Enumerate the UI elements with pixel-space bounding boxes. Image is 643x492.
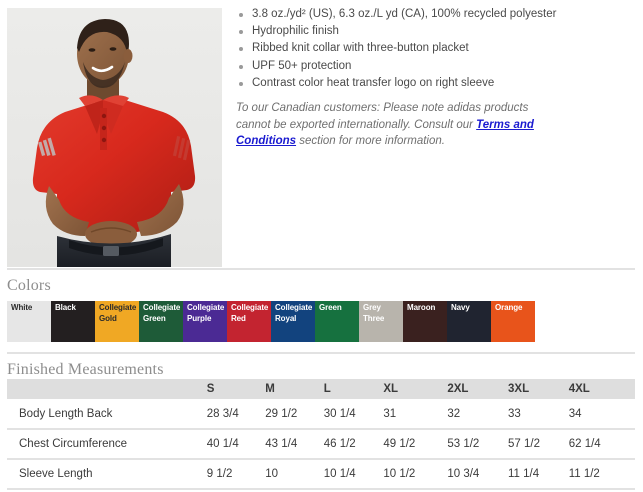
cell-value: 57 1/2 (508, 429, 569, 459)
colors-section-title: Colors (7, 277, 51, 295)
table-body: Body Length Back 28 3/4 29 1/2 30 1/4 31… (7, 399, 635, 489)
color-swatch-collegiate-gold[interactable]: Collegiate Gold (95, 301, 139, 342)
cell-value: 34 (569, 399, 635, 429)
list-item: UPF 50+ protection (236, 58, 636, 75)
cell-value: 10 (265, 459, 323, 489)
color-swatch-label: Maroon (407, 303, 446, 314)
color-swatch-label: Orange (495, 303, 534, 314)
cell-value: 10 1/2 (383, 459, 447, 489)
color-swatch-green[interactable]: Green (315, 301, 359, 342)
column-header-l: L (324, 379, 384, 399)
color-swatch-label: Green (319, 303, 358, 314)
table-row: Sleeve Length 9 1/2 10 10 1/4 10 1/2 10 … (7, 459, 635, 489)
cell-value: 10 3/4 (447, 459, 508, 489)
finished-measurements-table: S M L XL 2XL 3XL 4XL Body Length Back 28… (7, 379, 635, 490)
color-swatch-label: Collegiate Gold (99, 303, 138, 324)
row-label: Chest Circumference (7, 429, 207, 459)
color-swatch-label: Black (55, 303, 94, 314)
cell-value: 10 1/4 (324, 459, 384, 489)
column-header-xl: XL (383, 379, 447, 399)
canadian-customers-note: To our Canadian customers: Please note a… (236, 100, 566, 150)
color-swatch-label: Collegiate Royal (275, 303, 314, 324)
cell-value: 11 1/4 (508, 459, 569, 489)
column-header-blank (7, 379, 207, 399)
cell-value: 49 1/2 (383, 429, 447, 459)
table-row: Body Length Back 28 3/4 29 1/2 30 1/4 31… (7, 399, 635, 429)
cell-value: 31 (383, 399, 447, 429)
model-photo-graphic (7, 8, 222, 267)
color-swatch-strip: White Black Collegiate Gold Collegiate G… (7, 301, 535, 342)
cell-value: 28 3/4 (207, 399, 265, 429)
measurements-section-title: Finished Measurements (7, 361, 164, 379)
product-image[interactable] (7, 8, 222, 267)
table-header: S M L XL 2XL 3XL 4XL (7, 379, 635, 399)
color-swatch-navy[interactable]: Navy (447, 301, 491, 342)
cell-value: 30 1/4 (324, 399, 384, 429)
row-label: Body Length Back (7, 399, 207, 429)
cell-value: 33 (508, 399, 569, 429)
color-swatch-collegiate-royal[interactable]: Collegiate Royal (271, 301, 315, 342)
measurements-section-divider (7, 352, 635, 354)
color-swatch-collegiate-green[interactable]: Collegiate Green (139, 301, 183, 342)
canada-note-text-after: section for more information. (296, 135, 445, 147)
color-swatch-maroon[interactable]: Maroon (403, 301, 447, 342)
color-swatch-label: Collegiate Purple (187, 303, 226, 324)
cell-value: 53 1/2 (447, 429, 508, 459)
cell-value: 40 1/4 (207, 429, 265, 459)
list-item: Hydrophilic finish (236, 23, 636, 40)
color-swatch-label: Grey Three (363, 303, 402, 324)
color-swatch-grey-three[interactable]: Grey Three (359, 301, 403, 342)
cell-value: 62 1/4 (569, 429, 635, 459)
list-item: Contrast color heat transfer logo on rig… (236, 75, 636, 92)
color-swatch-label: Navy (451, 303, 490, 314)
product-overview-section: 3.8 oz./yd² (US), 6.3 oz./L yd (CA), 100… (0, 0, 643, 268)
column-header-4xl: 4XL (569, 379, 635, 399)
product-features: 3.8 oz./yd² (US), 6.3 oz./L yd (CA), 100… (236, 6, 636, 150)
row-label: Sleeve Length (7, 459, 207, 489)
cell-value: 9 1/2 (207, 459, 265, 489)
color-swatch-white[interactable]: White (7, 301, 51, 342)
list-item: 3.8 oz./yd² (US), 6.3 oz./L yd (CA), 100… (236, 6, 636, 23)
column-header-s: S (207, 379, 265, 399)
color-swatch-collegiate-purple[interactable]: Collegiate Purple (183, 301, 227, 342)
color-swatch-label: White (11, 303, 50, 314)
column-header-2xl: 2XL (447, 379, 508, 399)
cell-value: 46 1/2 (324, 429, 384, 459)
color-swatch-orange[interactable]: Orange (491, 301, 535, 342)
cell-value: 32 (447, 399, 508, 429)
cell-value: 43 1/4 (265, 429, 323, 459)
column-header-3xl: 3XL (508, 379, 569, 399)
color-swatch-label: Collegiate Red (231, 303, 270, 324)
column-header-m: M (265, 379, 323, 399)
list-item: Ribbed knit collar with three-button pla… (236, 40, 636, 57)
color-swatch-black[interactable]: Black (51, 301, 95, 342)
cell-value: 29 1/2 (265, 399, 323, 429)
table-header-row: S M L XL 2XL 3XL 4XL (7, 379, 635, 399)
cell-value: 11 1/2 (569, 459, 635, 489)
color-swatch-label: Collegiate Green (143, 303, 182, 324)
color-swatch-collegiate-red[interactable]: Collegiate Red (227, 301, 271, 342)
table-row: Chest Circumference 40 1/4 43 1/4 46 1/2… (7, 429, 635, 459)
feature-list: 3.8 oz./yd² (US), 6.3 oz./L yd (CA), 100… (236, 6, 636, 92)
colors-section-divider (7, 268, 635, 270)
